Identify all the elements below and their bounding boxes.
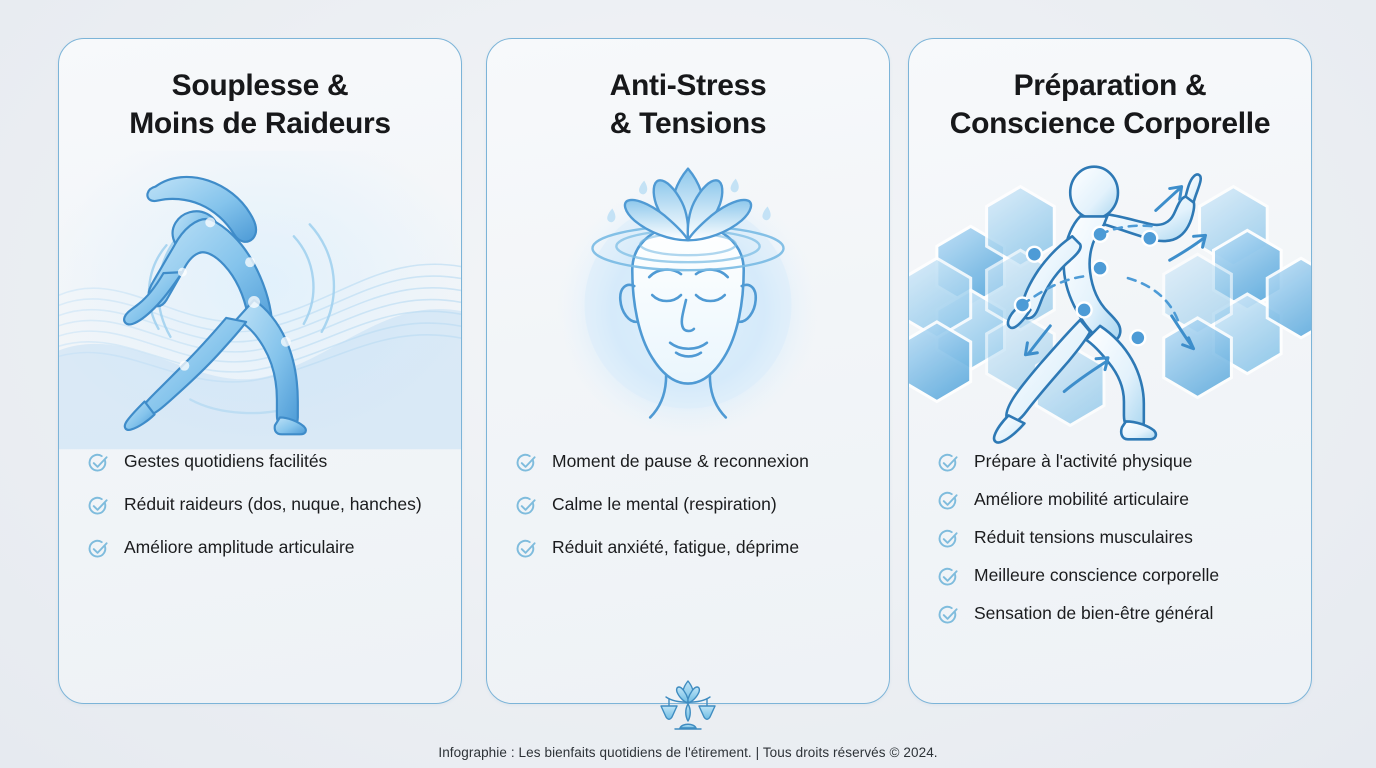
list-item-label: Améliore mobilité articulaire: [974, 488, 1189, 511]
check-circle-icon: [87, 495, 110, 518]
list-item-label: Améliore amplitude articulaire: [124, 536, 355, 559]
list-item-label: Moment de pause & reconnexion: [552, 450, 809, 473]
list-item-label: Réduit anxiété, fatigue, déprime: [552, 536, 799, 559]
check-circle-icon: [937, 452, 960, 475]
dynamic-body-hexagons-illustration: [909, 150, 1311, 450]
list-item: Améliore mobilité articulaire: [937, 488, 1287, 513]
card-souplesse: Souplesse & Moins de Raideurs: [58, 38, 462, 704]
check-circle-icon: [87, 452, 110, 475]
serene-face-lotus-illustration: [487, 150, 889, 450]
infographic-board: Souplesse & Moins de Raideurs: [0, 0, 1376, 768]
check-circle-icon: [515, 495, 538, 518]
check-circle-icon: [87, 538, 110, 561]
list-item-label: Meilleure conscience corporelle: [974, 564, 1219, 587]
list-item: Calme le mental (respiration): [515, 493, 865, 518]
check-circle-icon: [937, 490, 960, 513]
card-title-preparation: Préparation & Conscience Corporelle: [909, 67, 1311, 144]
card-preparation: Préparation & Conscience Corporelle: [908, 38, 1312, 704]
benefit-list-preparation: Prépare à l'activité physique Améliore m…: [909, 450, 1311, 627]
list-item: Sensation de bien-être général: [937, 602, 1287, 627]
list-item: Prépare à l'activité physique: [937, 450, 1287, 475]
benefit-list-souplesse: Gestes quotidiens facilités Réduit raide…: [59, 450, 461, 561]
list-item-label: Sensation de bien-être général: [974, 602, 1213, 625]
list-item: Réduit raideurs (dos, nuque, hanches): [87, 493, 437, 518]
list-item: Réduit tensions musculaires: [937, 526, 1287, 551]
check-circle-icon: [937, 604, 960, 627]
list-item: Meilleure conscience corporelle: [937, 564, 1287, 589]
list-item: Réduit anxiété, fatigue, déprime: [515, 536, 865, 561]
footer-credit-text: Infographie : Les bienfaits quotidiens d…: [0, 745, 1376, 760]
benefit-list-anti-stress: Moment de pause & reconnexion Calme le m…: [487, 450, 889, 561]
list-item-label: Réduit tensions musculaires: [974, 526, 1193, 549]
list-item-label: Gestes quotidiens facilités: [124, 450, 327, 473]
lotus-balance-scale-logo: [658, 678, 718, 732]
footer: Infographie : Les bienfaits quotidiens d…: [0, 745, 1376, 760]
card-anti-stress: Anti-Stress & Tensions: [486, 38, 890, 704]
check-circle-icon: [515, 452, 538, 475]
check-circle-icon: [937, 566, 960, 589]
card-title-anti-stress: Anti-Stress & Tensions: [487, 67, 889, 144]
list-item-label: Prépare à l'activité physique: [974, 450, 1192, 473]
stretching-figure-illustration: [59, 150, 461, 450]
list-item: Améliore amplitude articulaire: [87, 536, 437, 561]
list-item: Moment de pause & reconnexion: [515, 450, 865, 475]
list-item-label: Réduit raideurs (dos, nuque, hanches): [124, 493, 422, 516]
card-title-souplesse: Souplesse & Moins de Raideurs: [59, 67, 461, 144]
check-circle-icon: [515, 538, 538, 561]
list-item: Gestes quotidiens facilités: [87, 450, 437, 475]
check-circle-icon: [937, 528, 960, 551]
list-item-label: Calme le mental (respiration): [552, 493, 777, 516]
